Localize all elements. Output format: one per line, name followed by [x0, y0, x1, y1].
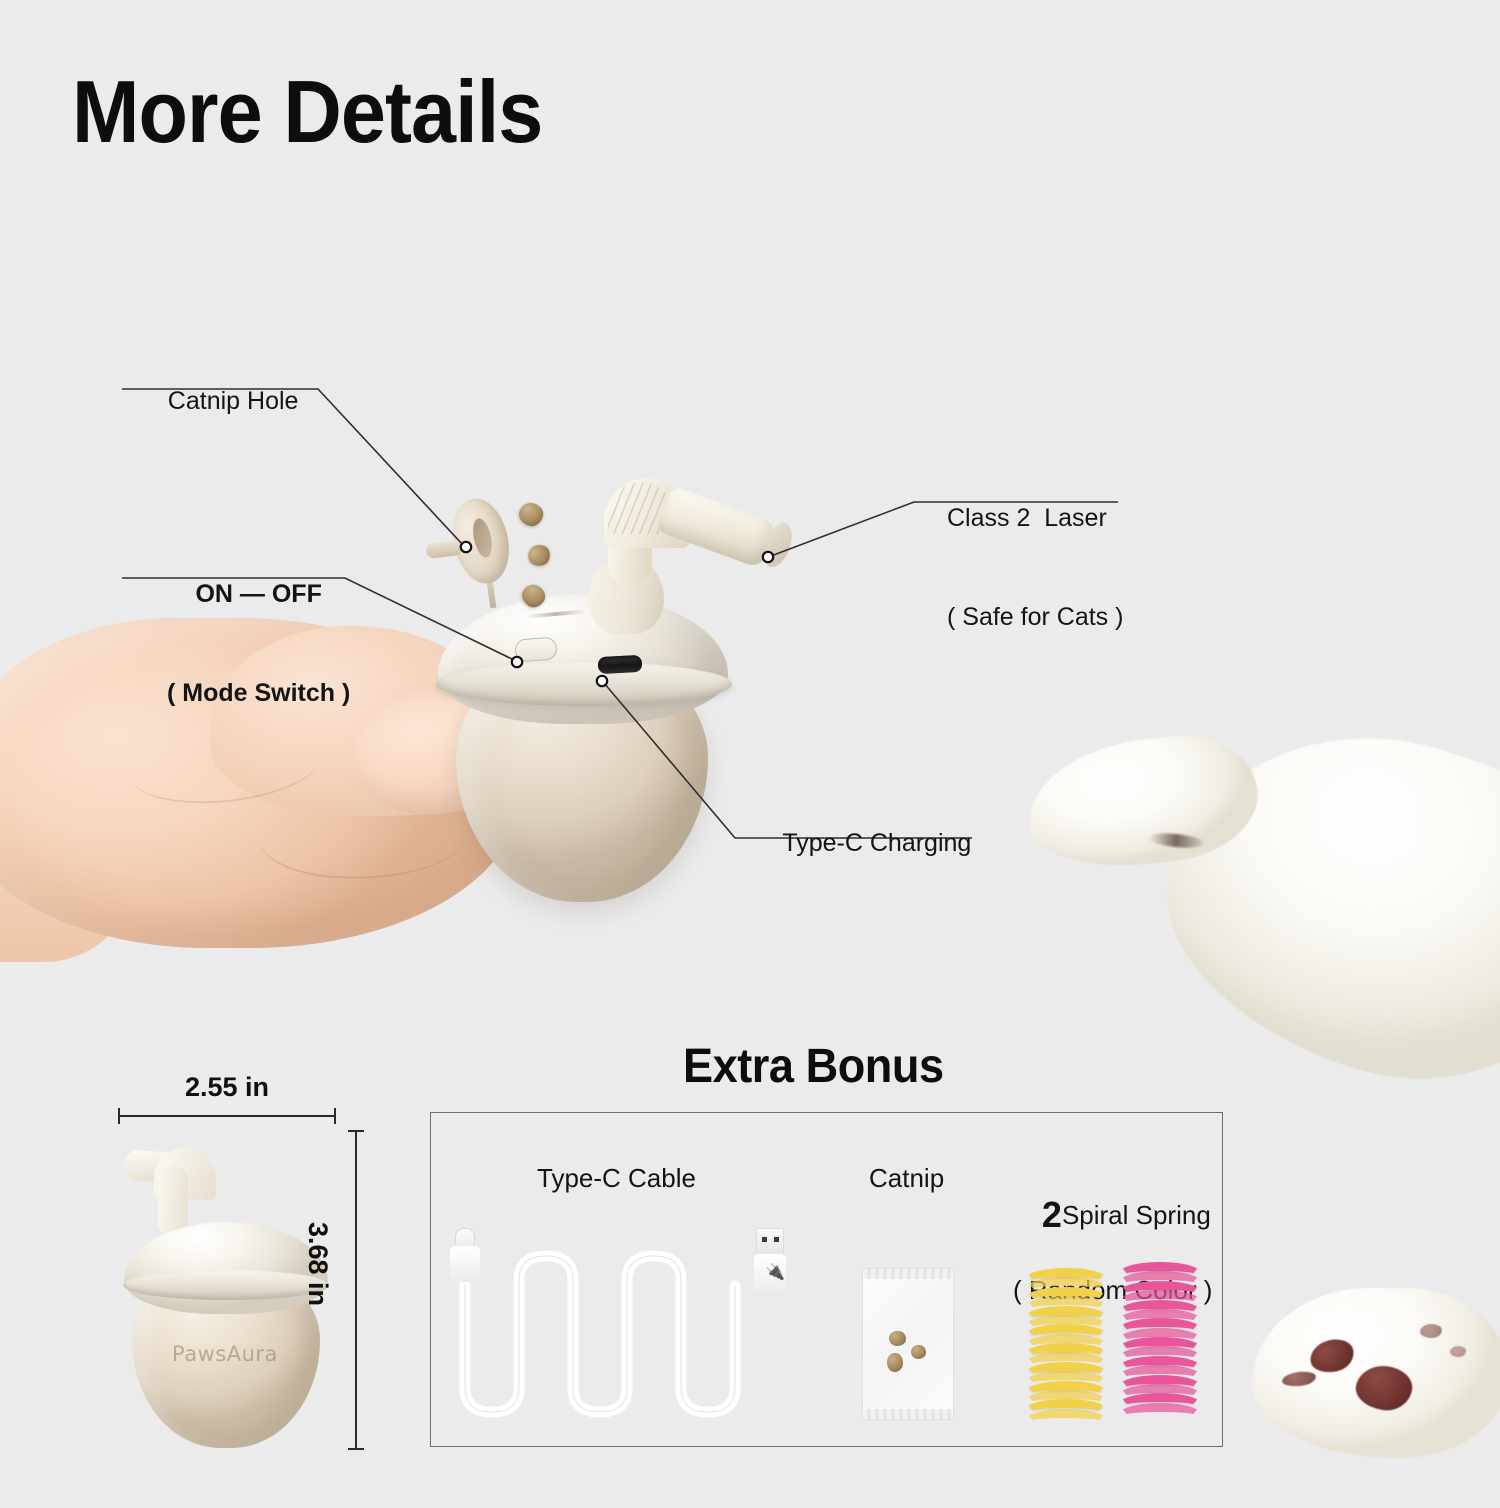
callout-mode-switch-label: ON — OFF — [167, 578, 350, 611]
dimension-height-label: 3.68 in — [302, 1222, 333, 1306]
callout-mode-switch: ON — OFF ( Mode Switch ) — [167, 512, 350, 776]
callout-catnip-hole: Catnip Hole — [140, 352, 298, 451]
callout-class-2-laser-label: Class 2 Laser — [947, 502, 1123, 535]
device-cap-rim — [436, 662, 732, 706]
bonus-item-label-catnip: Catnip — [869, 1162, 944, 1196]
spiral-spring-pink — [1118, 1262, 1202, 1412]
extra-bonus-title: Extra Bonus — [683, 1039, 944, 1094]
cat-toe-bean — [1450, 1346, 1466, 1357]
catnip-pellet — [887, 1353, 903, 1372]
usb-trident-icon: 🔌 — [765, 1264, 775, 1282]
callout-class-2-laser: Class 2 Laser ( Safe for Cats ) — [947, 436, 1123, 700]
callout-type-c-charging-label: Type-C Charging — [782, 829, 971, 857]
dimension-width-line — [118, 1108, 336, 1124]
dimension-tick-left — [118, 1108, 120, 1124]
brand-logo: PawsAura — [110, 1342, 340, 1366]
cat-toe-bean — [1420, 1324, 1442, 1338]
laser-arm-horizontal — [656, 485, 778, 568]
callout-type-c-charging: Type-C Charging — [755, 794, 971, 893]
mode-switch-button[interactable] — [514, 637, 558, 663]
infographic-canvas: More Details — [0, 0, 1500, 1500]
usb-a-connector: 🔌 — [754, 1228, 786, 1294]
usb-c-connector — [450, 1228, 480, 1290]
catnip-pellet — [525, 542, 553, 569]
cable-path — [448, 1228, 788, 1418]
catnip-pellet — [517, 501, 545, 528]
bonus-item-label-cable: Type-C Cable — [537, 1162, 696, 1196]
usb-a-pin — [762, 1237, 767, 1242]
page-title: More Details — [72, 68, 542, 156]
spring-label: Spiral Spring — [1062, 1200, 1211, 1230]
type-c-port — [598, 655, 643, 674]
type-c-cable-illustration: 🔌 — [448, 1228, 788, 1418]
callout-mode-switch-sublabel: ( Mode Switch ) — [167, 677, 350, 710]
dimension-width-bar — [118, 1115, 336, 1117]
dimension-height-bar — [355, 1130, 357, 1450]
dim-device-cap — [124, 1222, 328, 1314]
callout-class-2-laser-sublabel: ( Safe for Cats ) — [947, 601, 1123, 634]
callout-catnip-hole-label: Catnip Hole — [168, 387, 299, 415]
sachet-seam-bottom — [863, 1409, 953, 1419]
spiral-spring-yellow — [1024, 1268, 1108, 1418]
sachet-seam-top — [863, 1269, 953, 1279]
dimension-tick-right — [334, 1108, 336, 1124]
catnip-pellet — [889, 1331, 906, 1346]
product-device-main — [418, 470, 778, 920]
catnip-sachet — [862, 1268, 954, 1420]
usb-a-pin — [774, 1237, 779, 1242]
dimension-height-line — [348, 1130, 364, 1450]
cat-paw-lower — [1252, 1288, 1500, 1508]
dimension-width-label: 2.55 in — [118, 1072, 336, 1103]
dimension-tick-top — [348, 1130, 364, 1132]
dimension-tick-bottom — [348, 1448, 364, 1450]
usb-c-shell — [450, 1246, 480, 1282]
spring-count: 2 — [1042, 1194, 1062, 1235]
catnip-pellet — [911, 1345, 926, 1359]
dim-device-cap-rim — [123, 1270, 329, 1300]
